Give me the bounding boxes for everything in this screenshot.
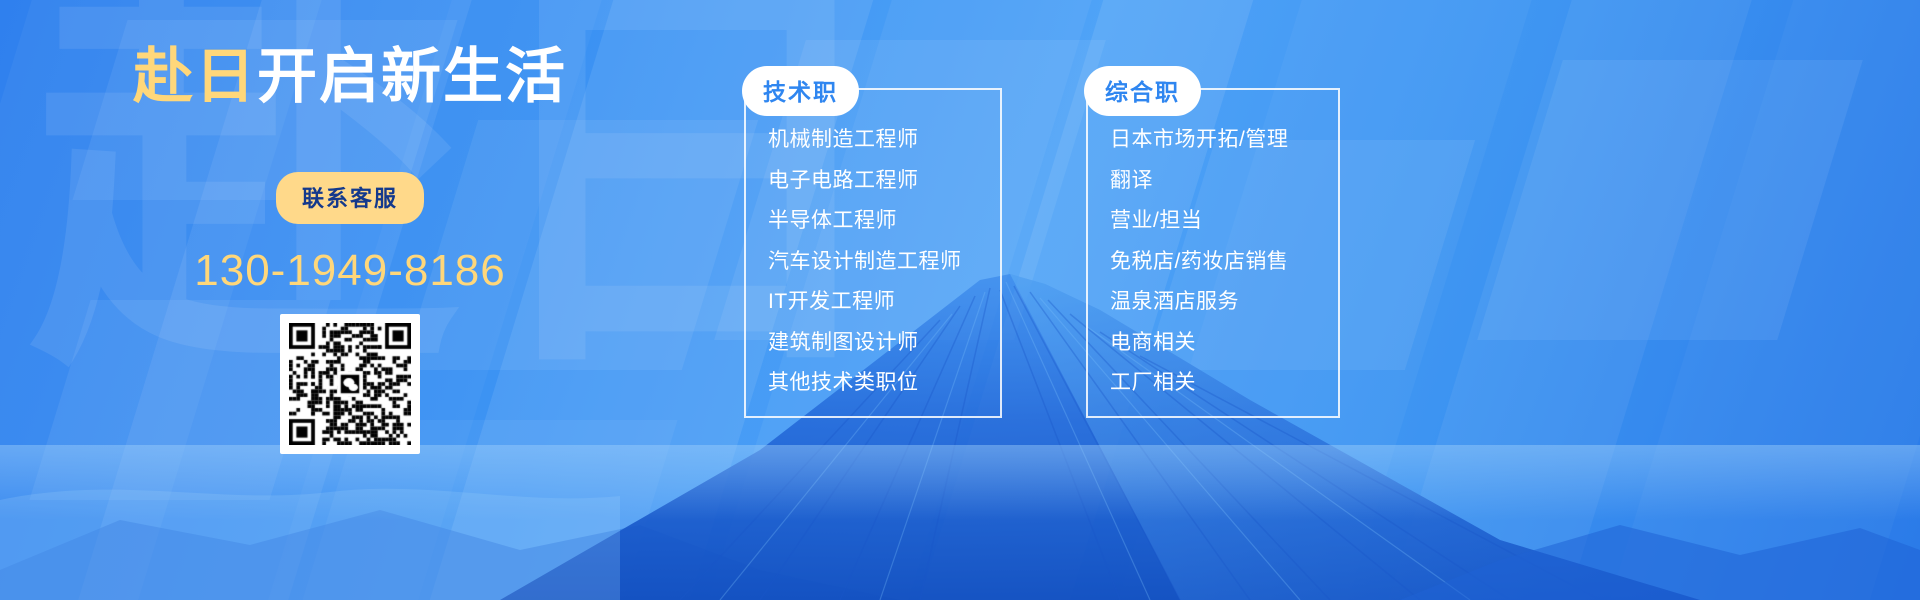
list-item[interactable]: 半导体工程师	[768, 201, 1000, 242]
decorative-panel	[1595, 0, 1920, 600]
hero-content: 赴日开启新生活 联系客服 130-1949-8186	[0, 0, 700, 600]
job-category-technical: 技术职 机械制造工程师 电子电路工程师 半导体工程师 汽车设计制造工程师 IT开…	[744, 88, 1002, 418]
list-item[interactable]: 电子电路工程师	[768, 161, 1000, 202]
list-item[interactable]: 机械制造工程师	[768, 120, 1000, 161]
job-category-label-general[interactable]: 综合职	[1084, 66, 1201, 116]
list-item[interactable]: 翻译	[1110, 161, 1338, 202]
promo-banner: 赴日	[0, 0, 1920, 600]
headline-accent-text: 赴日	[133, 43, 257, 110]
decorative-block	[1477, 60, 1863, 340]
job-category-label-technical[interactable]: 技术职	[742, 66, 859, 116]
list-item[interactable]: 温泉酒店服务	[1110, 282, 1338, 323]
job-list-general: 日本市场开拓/管理 翻译 营业/担当 免税店/药妆店销售 温泉酒店服务 电商相关…	[1088, 120, 1338, 404]
list-item[interactable]: 建筑制图设计师	[768, 323, 1000, 364]
headline-rest-text: 开启新生活	[257, 43, 567, 110]
list-item[interactable]: 日本市场开拓/管理	[1110, 120, 1338, 161]
contact-support-button[interactable]: 联系客服	[276, 172, 424, 224]
list-item[interactable]: 其他技术类职位	[768, 363, 1000, 404]
list-item[interactable]: 工厂相关	[1110, 363, 1338, 404]
list-item[interactable]: 电商相关	[1110, 323, 1338, 364]
phone-number[interactable]: 130-1949-8186	[0, 246, 700, 296]
list-item[interactable]: 营业/担当	[1110, 201, 1338, 242]
list-item[interactable]: 汽车设计制造工程师	[768, 242, 1000, 283]
page-title: 赴日开启新生活	[0, 44, 700, 110]
qr-code[interactable]	[280, 314, 420, 454]
job-list-technical: 机械制造工程师 电子电路工程师 半导体工程师 汽车设计制造工程师 IT开发工程师…	[746, 120, 1000, 404]
list-item[interactable]: IT开发工程师	[768, 282, 1000, 323]
job-category-general: 综合职 日本市场开拓/管理 翻译 营业/担当 免税店/药妆店销售 温泉酒店服务 …	[1086, 88, 1340, 418]
wechat-qr-code-icon	[289, 323, 411, 445]
list-item[interactable]: 免税店/药妆店销售	[1110, 242, 1338, 283]
decorative-panel	[1373, 0, 1767, 600]
